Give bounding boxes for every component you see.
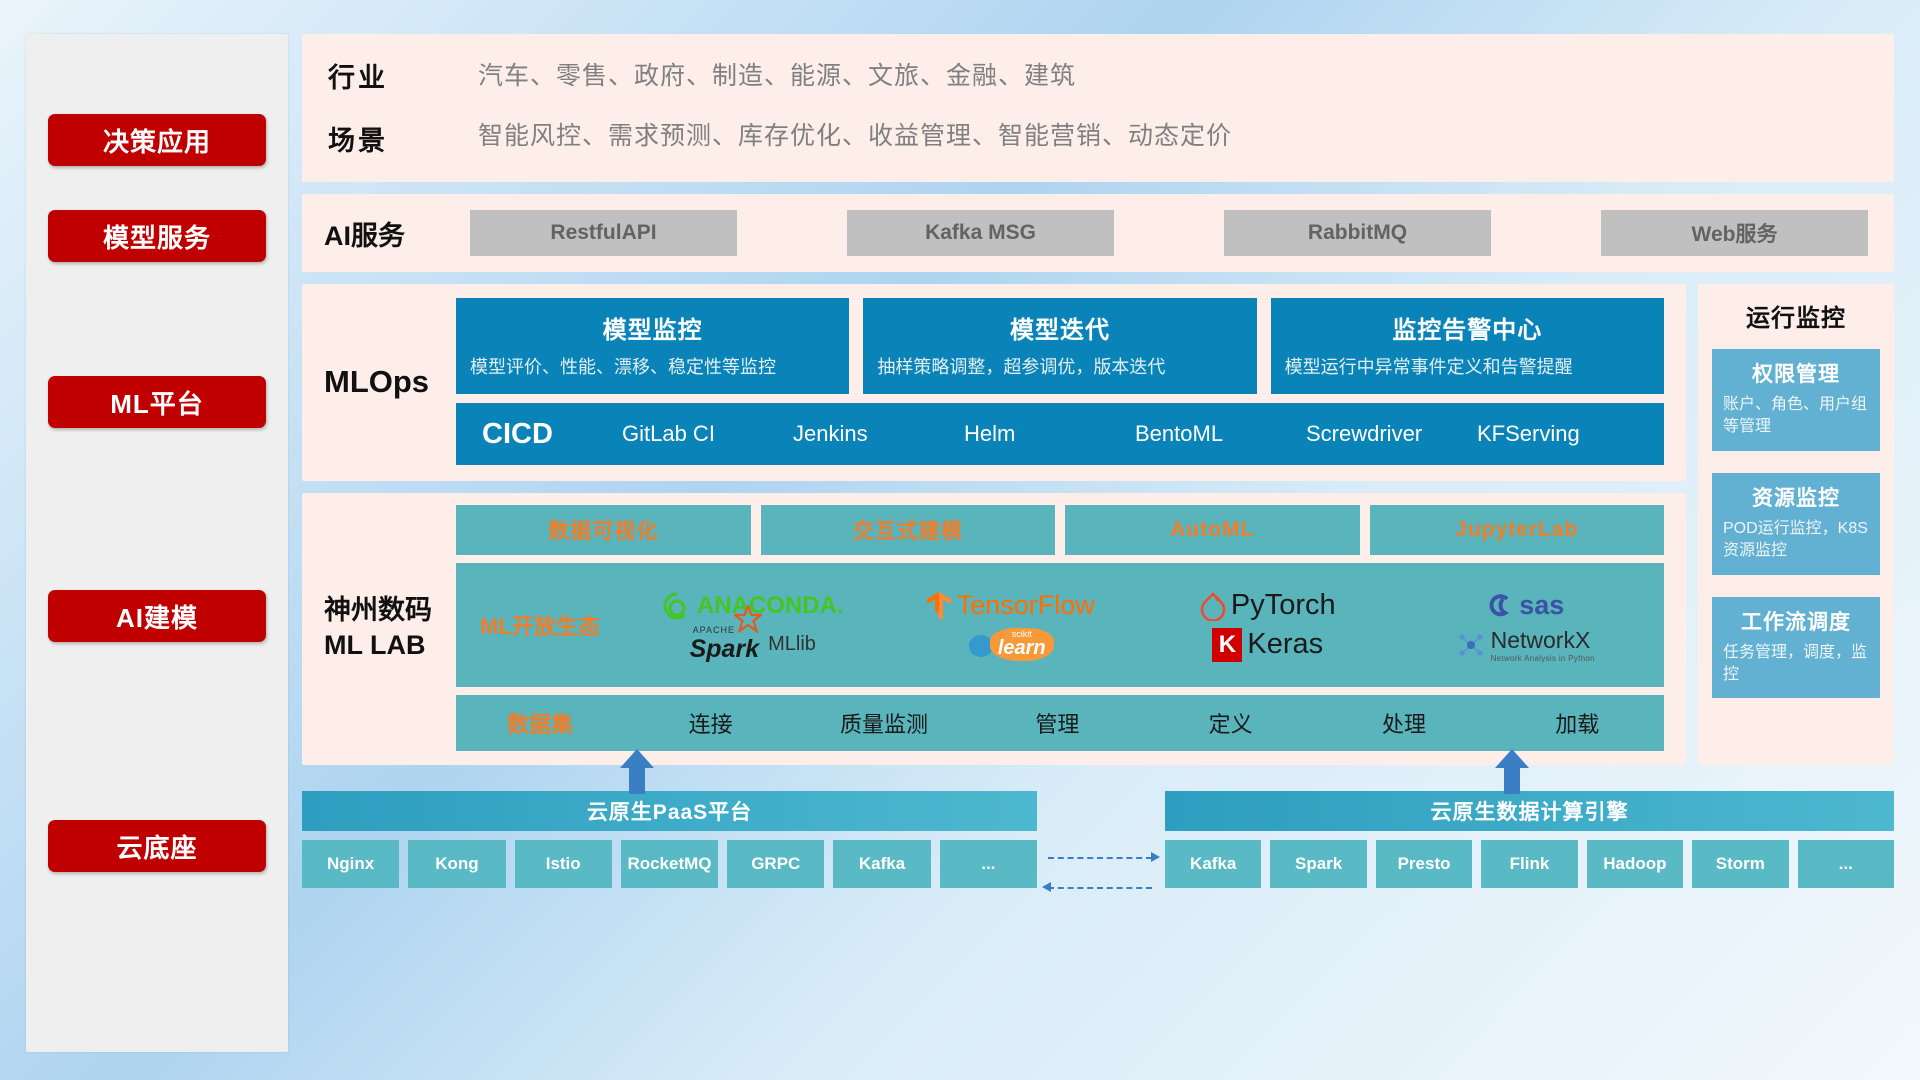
cloud-base-section: 云原生PaaS平台 Nginx Kong Istio RocketMQ GRPC…	[302, 791, 1894, 888]
ml-ecosystem-row: ML开放生态 ANACONDA.	[456, 563, 1664, 687]
rail-item-ai-modeling[interactable]: AI建模	[48, 590, 266, 642]
data-engine-up-arrow	[1495, 749, 1529, 793]
mlops-card-desc: 模型运行中异常事件定义和告警提醒	[1285, 354, 1650, 380]
tab-automl[interactable]: AutoML	[1065, 505, 1360, 555]
scikit-orange-blob: scikit learn	[990, 628, 1054, 661]
mlops-card-desc: 抽样策略调整，超参调优，版本迭代	[877, 354, 1242, 380]
mlops-card[interactable]: 模型迭代 抽样策略调整，超参调优，版本迭代	[863, 298, 1256, 394]
anaconda-icon	[662, 591, 692, 621]
ml-ecosystem-label: ML开放生态	[456, 609, 624, 641]
data-engine-chip[interactable]: Presto	[1376, 840, 1472, 888]
monitor-card-permission[interactable]: 权限管理 账户、角色、用户组等管理	[1712, 349, 1880, 451]
platform-column: MLOps 模型监控 模型评价、性能、漂移、稳定性等监控 模型迭代 抽样策略调整…	[302, 284, 1686, 765]
monitor-card-title: 权限管理	[1723, 358, 1869, 388]
rail-item-label: 决策应用	[103, 122, 211, 159]
dashed-line-left	[1048, 887, 1152, 889]
data-engine-chip[interactable]: Spark	[1270, 840, 1366, 888]
industry-values: 汽车、零售、政府、制造、能源、文旅、金融、建筑	[478, 56, 1868, 92]
ml-lab-content: 数据可视化 交互式建模 AutoML JupyterLab ML开放生态	[456, 505, 1664, 751]
ml-lab-label-line2: ML LAB	[324, 628, 432, 663]
tab-data-visualization[interactable]: 数据可视化	[456, 505, 751, 555]
industry-scenario-values: 汽车、零售、政府、制造、能源、文旅、金融、建筑 智能风控、需求预测、库存优化、收…	[478, 56, 1868, 158]
mlops-card[interactable]: 监控告警中心 模型运行中异常事件定义和告警提醒	[1271, 298, 1664, 394]
paas-chip[interactable]: Nginx	[302, 840, 399, 888]
mlops-band: MLOps 模型监控 模型评价、性能、漂移、稳定性等监控 模型迭代 抽样策略调整…	[302, 284, 1686, 481]
mlops-card-desc: 模型评价、性能、漂移、稳定性等监控	[470, 354, 835, 380]
platform-and-monitor: MLOps 模型监控 模型评价、性能、漂移、稳定性等监控 模型迭代 抽样策略调整…	[302, 284, 1894, 765]
data-engine-chip[interactable]: ...	[1798, 840, 1894, 888]
data-engine-header: 云原生数据计算引擎	[1165, 791, 1894, 831]
mlops-card[interactable]: 模型监控 模型评价、性能、漂移、稳定性等监控	[456, 298, 849, 394]
monitor-card-resource[interactable]: 资源监控 POD运行监控，K8S资源监控	[1712, 473, 1880, 575]
paas-up-arrow	[620, 749, 654, 793]
spark-wordmark: Spark	[690, 635, 759, 663]
cicd-item[interactable]: KFServing	[1477, 421, 1648, 447]
cicd-item[interactable]: GitLab CI	[622, 421, 793, 447]
ml-lab-label-line1: 神州数码	[324, 593, 432, 628]
monitor-card-desc: 任务管理，调度，监控	[1723, 642, 1869, 687]
mlops-card-title: 监控告警中心	[1285, 310, 1650, 345]
paas-chip[interactable]: Kafka	[833, 840, 930, 888]
ai-service-chip[interactable]: RestfulAPI	[470, 210, 737, 256]
tensorflow-icon	[926, 591, 952, 621]
networkx-icon	[1456, 630, 1486, 660]
arrow-head-right-icon	[1151, 852, 1160, 862]
bidirectional-dashed-connector	[1042, 853, 1160, 895]
rail-item-decision-app[interactable]: 决策应用	[48, 114, 266, 166]
pytorch-icon	[1200, 591, 1226, 621]
ml-lab-label: 神州数码 ML LAB	[324, 505, 456, 751]
mlops-content: 模型监控 模型评价、性能、漂移、稳定性等监控 模型迭代 抽样策略调整，超参调优，…	[456, 298, 1664, 465]
industry-scenario-band: 行业 场景 汽车、零售、政府、制造、能源、文旅、金融、建筑 智能风控、需求预测、…	[302, 34, 1894, 182]
industry-label: 行业	[328, 56, 478, 95]
data-engine-chip[interactable]: Flink	[1481, 840, 1577, 888]
pytorch-logo: PyTorch	[1200, 589, 1336, 622]
cicd-item-list: GitLab CI Jenkins Helm BentoML Screwdriv…	[622, 421, 1648, 447]
ai-service-chip[interactable]: Web服务	[1601, 210, 1868, 256]
architecture-diagram: 决策应用 模型服务 ML平台 AI建模 云底座 行业 场景 汽车、零售、政府、制…	[0, 0, 1920, 1080]
mlops-card-title: 模型迭代	[877, 310, 1242, 345]
tensorflow-logo: TensorFlow	[926, 590, 1095, 621]
ai-service-label: AI服务	[324, 214, 452, 253]
rail-item-label: 云底座	[116, 828, 197, 865]
paas-chip[interactable]: RocketMQ	[621, 840, 718, 888]
dataset-item[interactable]: 处理	[1317, 707, 1490, 739]
monitor-card-desc: POD运行监控，K8S资源监控	[1723, 518, 1869, 563]
keras-wordmark: Keras	[1247, 628, 1323, 661]
paas-chip[interactable]: Istio	[515, 840, 612, 888]
paas-header: 云原生PaaS平台	[302, 791, 1037, 831]
runtime-monitor-title: 运行监控	[1712, 298, 1880, 333]
scenario-label: 场景	[328, 119, 478, 158]
rail-item-model-service[interactable]: 模型服务	[48, 210, 266, 262]
paas-chip[interactable]: Kong	[408, 840, 505, 888]
sas-wordmark: sas	[1519, 590, 1564, 621]
cicd-item[interactable]: Screwdriver	[1306, 421, 1477, 447]
spark-mllib-logo: APACHE Spark MLlib	[690, 625, 816, 664]
keras-k-mark: K	[1212, 628, 1242, 662]
dashed-line-right	[1048, 857, 1152, 859]
learn-word: learn	[998, 639, 1046, 658]
data-engine-chip-list: Kafka Spark Presto Flink Hadoop Storm ..…	[1165, 840, 1894, 888]
cicd-title: CICD	[482, 418, 622, 451]
anaconda-wordmark: ANACONDA.	[697, 592, 844, 620]
ai-service-chip[interactable]: RabbitMQ	[1224, 210, 1491, 256]
rail-item-label: AI建模	[116, 598, 198, 635]
mllib-wordmark: MLlib	[768, 633, 816, 656]
dataset-item[interactable]: 定义	[1144, 707, 1317, 739]
scikit-learn-logo: scikit learn	[967, 628, 1054, 661]
tab-interactive-modeling[interactable]: 交互式建模	[761, 505, 1056, 555]
paas-column: 云原生PaaS平台 Nginx Kong Istio RocketMQ GRPC…	[302, 791, 1037, 888]
rail-item-ml-platform[interactable]: ML平台	[48, 376, 266, 428]
data-engine-chip[interactable]: Kafka	[1165, 840, 1261, 888]
rail-item-label: 模型服务	[103, 218, 211, 255]
pytorch-wordmark: PyTorch	[1231, 589, 1336, 622]
ai-service-chip[interactable]: Kafka MSG	[847, 210, 1114, 256]
dataset-label: 数据集	[456, 707, 624, 739]
layer-rail: 决策应用 模型服务 ML平台 AI建模 云底座	[26, 34, 288, 1052]
sas-icon	[1486, 592, 1514, 620]
networkx-logo: NetworkX Network Analysis in Python	[1456, 627, 1595, 663]
data-engine-chip[interactable]: Storm	[1692, 840, 1788, 888]
keras-logo: K Keras	[1212, 628, 1323, 662]
ml-lab-band: 神州数码 ML LAB 数据可视化 交互式建模 AutoML JupyterLa…	[302, 493, 1686, 765]
industry-scenario-labels: 行业 场景	[328, 56, 478, 158]
paas-chip[interactable]: ...	[940, 840, 1037, 888]
rail-item-label: ML平台	[110, 384, 204, 421]
monitor-card-title: 资源监控	[1723, 482, 1869, 512]
ml-ecosystem-logo-grid: ANACONDA. TensorFlow	[624, 586, 1654, 664]
scenario-values: 智能风控、需求预测、库存优化、收益管理、智能营销、动态定价	[478, 116, 1868, 152]
ai-service-chip-list: RestfulAPI Kafka MSG RabbitMQ Web服务	[470, 210, 1872, 256]
dataset-row: 数据集 连接 质量监测 管理 定义 处理 加载	[456, 695, 1664, 751]
sas-logo: sas	[1486, 590, 1564, 621]
runtime-monitor-column: 运行监控 权限管理 账户、角色、用户组等管理 资源监控 POD运行监控，K8S资…	[1698, 284, 1894, 765]
mlops-label: MLOps	[324, 298, 456, 465]
networkx-tagline: Network Analysis in Python	[1491, 654, 1595, 663]
mlops-card-title: 模型监控	[470, 310, 835, 345]
cicd-item[interactable]: BentoML	[1135, 421, 1306, 447]
ml-lab-tab-list: 数据可视化 交互式建模 AutoML JupyterLab	[456, 505, 1664, 555]
rail-item-cloud-base[interactable]: 云底座	[48, 820, 266, 872]
ai-service-band: AI服务 RestfulAPI Kafka MSG RabbitMQ Web服务	[302, 194, 1894, 272]
cicd-item[interactable]: Jenkins	[793, 421, 964, 447]
cicd-item[interactable]: Helm	[964, 421, 1135, 447]
mlops-card-list: 模型监控 模型评价、性能、漂移、稳定性等监控 模型迭代 抽样策略调整，超参调优，…	[456, 298, 1664, 394]
monitor-card-desc: 账户、角色、用户组等管理	[1723, 394, 1869, 439]
dataset-item[interactable]: 连接	[624, 707, 797, 739]
dataset-item-list: 连接 质量监测 管理 定义 处理 加载	[624, 707, 1664, 739]
monitor-card-title: 工作流调度	[1723, 606, 1869, 636]
main-stack: 行业 场景 汽车、零售、政府、制造、能源、文旅、金融、建筑 智能风控、需求预测、…	[302, 34, 1894, 1052]
cicd-bar: CICD GitLab CI Jenkins Helm BentoML Scre…	[456, 403, 1664, 465]
networkx-wordmark: NetworkX	[1491, 627, 1595, 654]
arrow-head-left-icon	[1042, 882, 1051, 892]
data-engine-chip[interactable]: Hadoop	[1587, 840, 1683, 888]
dataset-item[interactable]: 管理	[971, 707, 1144, 739]
spark-star-icon	[734, 605, 762, 633]
tensorflow-wordmark: TensorFlow	[957, 590, 1095, 621]
dataset-item[interactable]: 加载	[1491, 707, 1664, 739]
data-engine-column: 云原生数据计算引擎 Kafka Spark Presto Flink Hadoo…	[1165, 791, 1894, 888]
paas-chip[interactable]: GRPC	[727, 840, 824, 888]
paas-chip-list: Nginx Kong Istio RocketMQ GRPC Kafka ...	[302, 840, 1037, 888]
monitor-card-workflow[interactable]: 工作流调度 任务管理，调度，监控	[1712, 597, 1880, 699]
tab-jupyterlab[interactable]: JupyterLab	[1370, 505, 1665, 555]
dataset-item[interactable]: 质量监测	[797, 707, 970, 739]
